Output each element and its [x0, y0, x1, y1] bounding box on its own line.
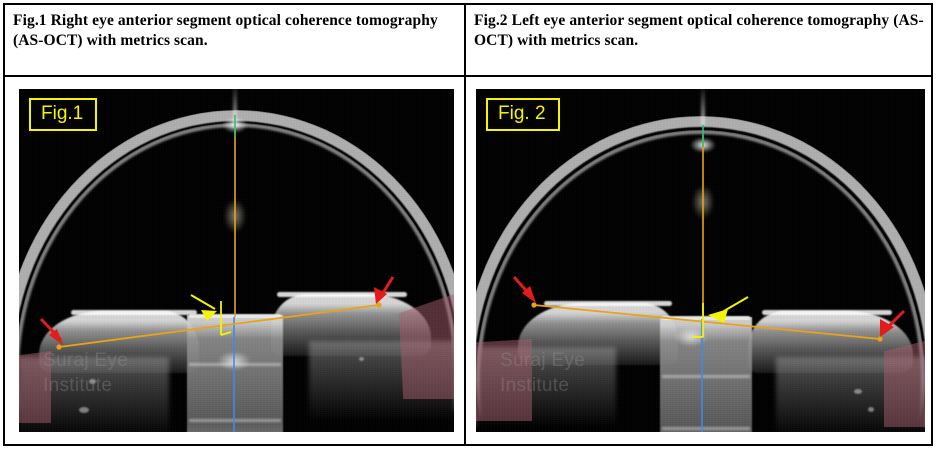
watermark-line-2: Institute — [500, 373, 585, 398]
watermark-fig1: Suraj Eye Institute — [43, 348, 128, 398]
image-cell-fig1: Fig.1 Suraj Eye Institute — [5, 77, 464, 448]
figure-table: Fig.1 Right eye anterior segment optical… — [3, 3, 933, 446]
ata-endpoint-left — [531, 302, 536, 307]
ata-endpoint-right — [376, 302, 381, 307]
oct-scan-fig2[interactable]: Fig. 2 Suraj Eye Institute — [476, 89, 925, 432]
vault-pointer-arrow — [724, 297, 748, 311]
watermark-line-1: Suraj Eye — [500, 348, 585, 373]
figure-badge-label: Fig.1 — [41, 103, 83, 124]
caption-text-fig2: Fig.2 Left eye anterior segment optical … — [474, 11, 927, 51]
figure-badge-fig2: Fig. 2 — [486, 98, 560, 131]
vault-measure-foot — [221, 332, 231, 335]
angle-to-angle-line — [534, 305, 880, 339]
angle-to-angle-line — [59, 305, 379, 347]
ata-endpoint-right — [877, 336, 882, 341]
oct-scan-fig1[interactable]: Fig.1 Suraj Eye Institute — [19, 89, 454, 432]
vault-pointer-arrowhead — [201, 310, 217, 321]
caption-cell-fig1: Fig.1 Right eye anterior segment optical… — [5, 5, 464, 75]
watermark-line-2: Institute — [43, 373, 128, 398]
watermark-line-1: Suraj Eye — [43, 348, 128, 373]
vault-pointer-arrowhead — [708, 309, 728, 323]
figure-page: Fig.1 Right eye anterior segment optical… — [0, 0, 937, 450]
figure-badge-label: Fig. 2 — [498, 103, 546, 124]
vault-pointer-arrow — [191, 295, 215, 309]
watermark-fig2: Suraj Eye Institute — [500, 348, 585, 398]
caption-text-fig1: Fig.1 Right eye anterior segment optical… — [13, 11, 456, 51]
caption-cell-fig2: Fig.2 Left eye anterior segment optical … — [466, 5, 935, 75]
figure-badge-fig1: Fig.1 — [29, 98, 97, 131]
image-cell-fig2: Fig. 2 Suraj Eye Institute — [466, 77, 935, 448]
